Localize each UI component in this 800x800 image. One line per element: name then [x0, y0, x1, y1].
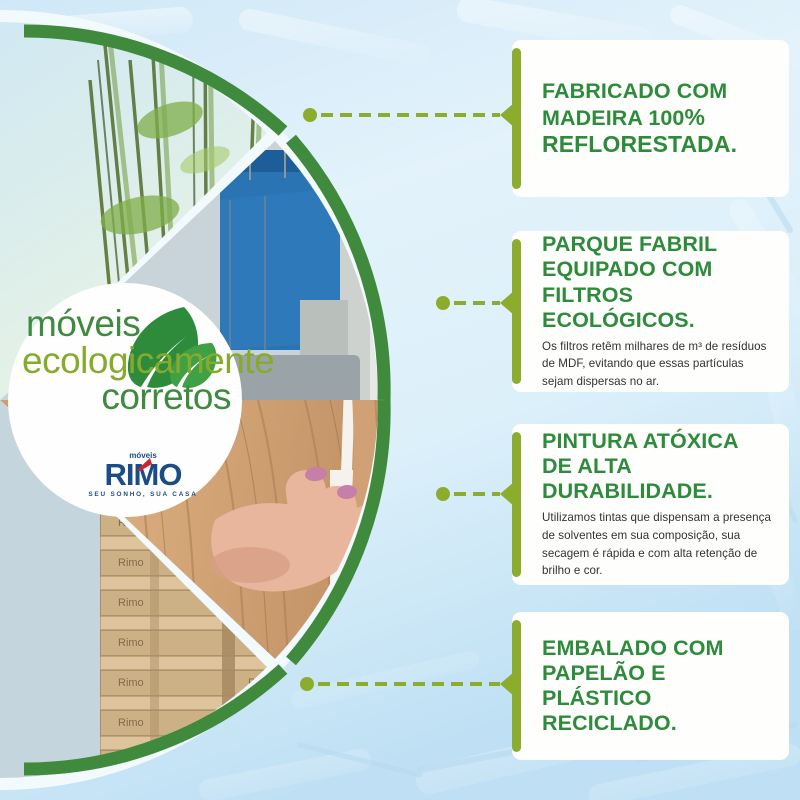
- info-card-1-heading: FABRICADO COM MADEIRA 100% REFLORESTADA.: [542, 79, 771, 158]
- info-card-2[interactable]: PARQUE FABRIL EQUIPADO COM FILTROS ECOLÓ…: [512, 231, 789, 392]
- connector-dot: [436, 296, 450, 310]
- info-card-3-body: Utilizamos tintas que dispensam a presen…: [542, 509, 771, 579]
- connector-dashes: [321, 113, 500, 117]
- card-accent-bar: [512, 620, 521, 752]
- connector-dot: [436, 487, 450, 501]
- rimo-accent-icon: [135, 458, 152, 471]
- connector-1: [303, 108, 515, 122]
- info-card-2-body: Os filtros retêm milhares de m³ de resíd…: [542, 338, 771, 391]
- rimo-logo-tagline: SEU SONHO, SUA CASA: [88, 492, 198, 498]
- connector-dashes: [318, 682, 500, 686]
- badge-line-3: corretos: [22, 379, 237, 415]
- info-card-4[interactable]: EMBALADO COM PAPELÃO E PLÁSTICO RECICLAD…: [512, 612, 789, 760]
- info-card-2-heading: PARQUE FABRIL EQUIPADO COM FILTROS ECOLÓ…: [542, 232, 771, 333]
- connector-dashes: [454, 301, 500, 305]
- info-card-3[interactable]: PINTURA ATÓXICA DE ALTA DURABILIDADE. Ut…: [512, 424, 789, 585]
- badge-text-block: móveis ecologicamente corretos: [22, 306, 237, 415]
- highlight-100: 100: [648, 106, 684, 130]
- rimo-logo-wordmark: RIMO: [105, 459, 182, 490]
- badge-line-1: móveis: [22, 306, 237, 342]
- info-card-3-heading: PINTURA ATÓXICA DE ALTA DURABILIDADE.: [542, 429, 771, 504]
- connector-dashes: [454, 492, 500, 496]
- connector-dot: [300, 677, 314, 691]
- connector-3: [436, 487, 515, 501]
- card-accent-bar: [512, 432, 521, 577]
- info-card-1[interactable]: FABRICADO COM MADEIRA 100% REFLORESTADA.: [512, 40, 789, 197]
- info-card-4-heading: EMBALADO COM PAPELÃO E PLÁSTICO RECICLAD…: [542, 636, 771, 737]
- connector-dot: [303, 108, 317, 122]
- connector-4: [300, 677, 515, 691]
- card-accent-bar: [512, 48, 521, 189]
- card-accent-bar: [512, 239, 521, 384]
- rimo-logo: móveis RIMO SEU SONHO, SUA CASA: [88, 452, 198, 498]
- connector-2: [436, 296, 515, 310]
- badge-line-2: ecologicamente: [22, 343, 237, 379]
